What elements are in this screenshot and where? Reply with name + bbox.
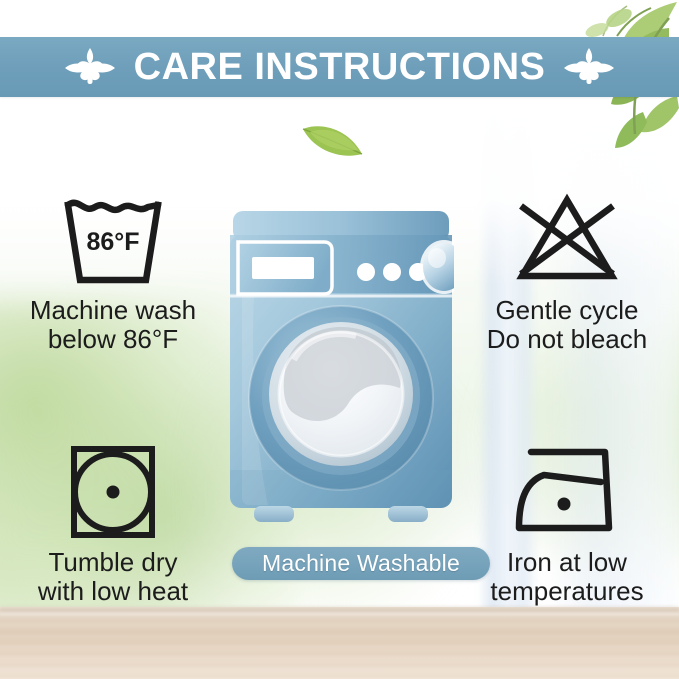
iron-low-temperature-icon: [508, 442, 626, 542]
tumble-dry-icon-wrap: [54, 442, 172, 542]
wash-tub-icon: 86°F: [54, 188, 172, 288]
tumble-dry-low-heat-icon: [54, 442, 172, 542]
iron-icon-wrap: [508, 442, 626, 542]
care-item-iron-low: Iron at low temperatures: [462, 442, 672, 605]
machine-button-2: [383, 263, 401, 281]
wood-table-edge: [0, 605, 679, 615]
care-caption-machine-wash: Machine wash below 86°F: [30, 296, 196, 353]
care-caption-iron-low: Iron at low temperatures: [490, 548, 643, 605]
machine-foot-left: [254, 506, 294, 522]
care-instructions-graphic: CARE INSTRUCTIONS 86°F Machine wash belo…: [0, 0, 679, 679]
no-bleach-icon-wrap: [508, 186, 626, 290]
machine-button-1: [357, 263, 375, 281]
care-item-machine-wash: 86°F Machine wash below 86°F: [8, 186, 218, 353]
machine-foot-right: [388, 506, 428, 522]
machine-washable-badge-label: Machine Washable: [262, 550, 460, 577]
machine-drawer-display: [252, 257, 314, 279]
washing-machine-illustration: [228, 208, 454, 538]
fleur-de-lis-left-icon: [62, 46, 118, 88]
wash-tub-icon-wrap: 86°F: [54, 186, 172, 290]
wood-grain-texture: [0, 607, 679, 679]
page-title: CARE INSTRUCTIONS: [118, 48, 562, 86]
wash-temperature-label: 86°F: [86, 228, 139, 256]
fleur-de-lis-right-icon: [561, 46, 617, 88]
machine-washable-badge: Machine Washable: [232, 547, 490, 580]
care-item-tumble-dry: Tumble dry with low heat: [8, 442, 218, 605]
care-caption-gentle-cycle-no-bleach: Gentle cycle Do not bleach: [487, 296, 647, 353]
triangle-crossed-no-bleach-icon: [508, 188, 626, 288]
header-banner: CARE INSTRUCTIONS: [0, 37, 679, 97]
care-caption-tumble-dry: Tumble dry with low heat: [38, 548, 188, 605]
care-item-gentle-cycle-no-bleach: Gentle cycle Do not bleach: [462, 186, 672, 353]
floating-leaf-icon: [300, 120, 366, 162]
